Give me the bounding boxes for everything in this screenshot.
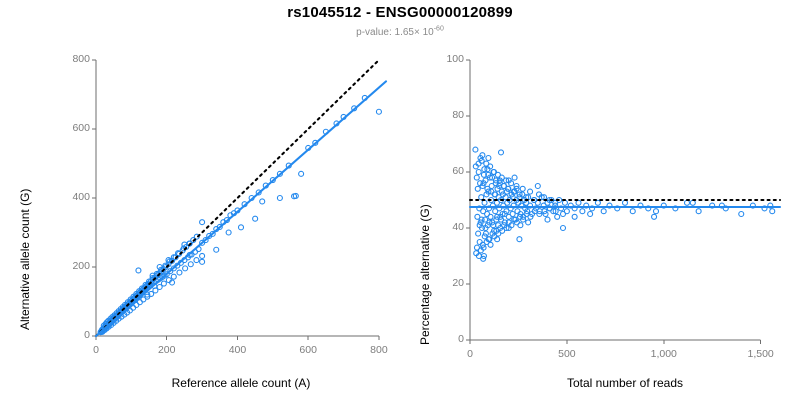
- data-point: [488, 242, 493, 247]
- y-axis-tick-label: 60: [424, 165, 464, 177]
- panel-reads-vs-percentage: Total number of reads Percentage alterna…: [400, 0, 800, 400]
- data-point: [161, 281, 166, 286]
- x-axis-tick-label: 200: [137, 344, 197, 356]
- data-point: [177, 270, 182, 275]
- data-point: [299, 171, 304, 176]
- data-point: [630, 209, 635, 214]
- x-axis-tick-label: 1,000: [634, 348, 694, 360]
- data-point: [200, 253, 205, 258]
- data-point: [739, 212, 744, 217]
- data-point: [561, 226, 566, 231]
- x-axis-tick-label: 0: [66, 344, 126, 356]
- data-point: [260, 199, 265, 204]
- data-point: [770, 209, 775, 214]
- y-axis-tick-label: 0: [50, 329, 90, 341]
- x-axis-tick-label: 0: [440, 348, 500, 360]
- y-axis-tick-label: 600: [50, 122, 90, 134]
- data-point: [510, 212, 515, 217]
- data-point: [171, 274, 176, 279]
- figure-root: rs1045512 - ENSG00000120899 p-value: 1.6…: [0, 0, 800, 400]
- data-point: [518, 223, 523, 228]
- data-point: [588, 212, 593, 217]
- data-point: [476, 170, 481, 175]
- data-point: [183, 266, 188, 271]
- y-axis-tick-label: 100: [424, 53, 464, 65]
- data-point: [277, 196, 282, 201]
- data-point: [188, 262, 193, 267]
- data-point-group: [98, 95, 381, 334]
- y-axis-tick-label: 80: [424, 109, 464, 121]
- x-axis-tick-label: 600: [278, 344, 338, 356]
- data-point: [239, 225, 244, 230]
- y-axis-tick-label: 40: [424, 221, 464, 233]
- x-axis-tick-label: 1,500: [731, 348, 791, 360]
- panel-reference-vs-alternative: Reference allele count (A) Alternative a…: [0, 0, 400, 400]
- data-point: [652, 214, 657, 219]
- x-axis-title-left: Reference allele count (A): [96, 376, 386, 390]
- data-point: [517, 237, 522, 242]
- data-point: [475, 186, 480, 191]
- data-point: [520, 186, 525, 191]
- data-point: [136, 268, 141, 273]
- data-point: [526, 220, 531, 225]
- data-point: [595, 200, 600, 205]
- y-axis-title-left: Alternative allele count (G): [18, 189, 32, 330]
- data-point: [654, 209, 659, 214]
- data-point: [473, 147, 478, 152]
- data-point: [535, 184, 540, 189]
- x-axis-title-right: Total number of reads: [470, 376, 780, 390]
- data-point: [528, 189, 533, 194]
- data-point: [476, 231, 481, 236]
- y-axis-tick-label: 20: [424, 277, 464, 289]
- data-point: [226, 230, 231, 235]
- data-point: [477, 240, 482, 245]
- data-point: [488, 214, 493, 219]
- linear-fit-line: [96, 81, 386, 336]
- data-point-group: [473, 147, 775, 261]
- x-axis-tick-label: 500: [537, 348, 597, 360]
- data-point: [555, 214, 560, 219]
- data-point: [486, 156, 491, 161]
- data-point: [194, 258, 199, 263]
- data-point: [696, 209, 701, 214]
- data-point: [601, 209, 606, 214]
- data-point: [499, 150, 504, 155]
- data-point: [200, 259, 205, 264]
- data-point: [214, 247, 219, 252]
- y-axis-tick-label: 800: [50, 53, 90, 65]
- data-point: [482, 167, 487, 172]
- data-point: [580, 209, 585, 214]
- data-point: [253, 216, 258, 221]
- x-axis-tick-label: 400: [207, 344, 267, 356]
- data-point: [545, 217, 550, 222]
- y-axis-tick-label: 400: [50, 191, 90, 203]
- data-point: [572, 214, 577, 219]
- y-axis-tick-label: 0: [424, 333, 464, 345]
- data-point: [474, 175, 479, 180]
- data-point: [512, 175, 517, 180]
- data-point: [564, 209, 569, 214]
- data-point: [376, 109, 381, 114]
- data-point: [200, 220, 205, 225]
- y-axis-tick-label: 200: [50, 260, 90, 272]
